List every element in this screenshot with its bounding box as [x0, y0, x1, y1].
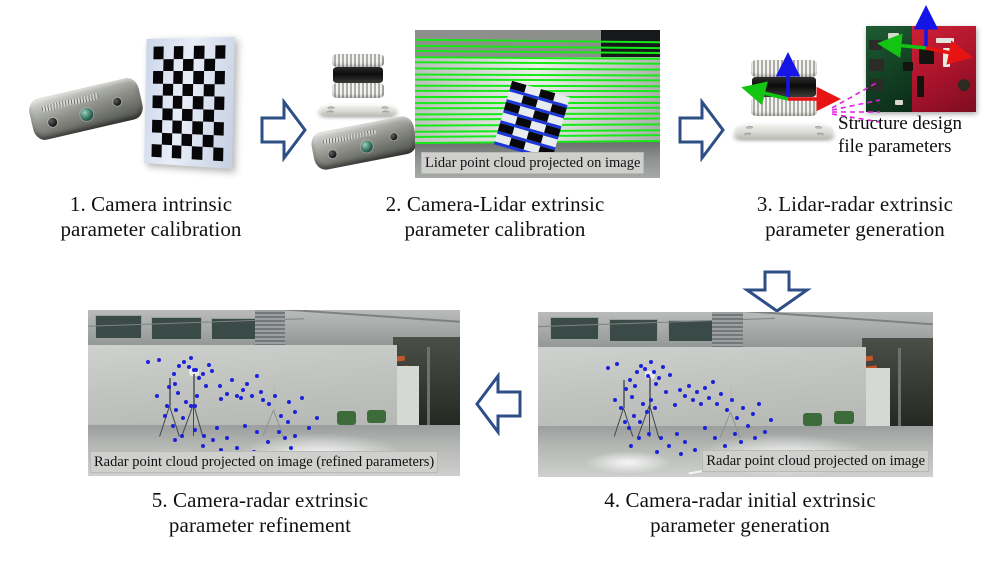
annotation-line2: file parameters [838, 135, 997, 158]
camera-icon [27, 76, 146, 142]
step-3-panel: Structure design file parameters 3. Lida… [720, 0, 997, 260]
step-3-label-line2: parameter generation [716, 217, 994, 242]
step-1-panel: 1. Camera intrinsic parameter calibratio… [0, 0, 300, 260]
step-3-label-line1: 3. Lidar-radar extrinsic [716, 192, 994, 217]
arrow-right-icon [676, 98, 726, 162]
step-3-annotation: Structure design file parameters [838, 112, 997, 158]
step-3-label: 3. Lidar-radar extrinsic parameter gener… [716, 192, 994, 242]
step-1-label-line1: 1. Camera intrinsic [6, 192, 296, 217]
step-2-photo: Lidar point cloud projected on image [415, 30, 660, 178]
tripod-left-2 [155, 376, 191, 438]
step-2-label-line2: parameter calibration [340, 217, 650, 242]
step-2-label: 2. Camera-Lidar extrinsic parameter cali… [340, 192, 650, 242]
step-5-image-caption: Radar point cloud projected on image (re… [90, 451, 438, 473]
step-5-label-line1: 5. Camera-radar extrinsic [60, 488, 460, 513]
step-5-panel: Radar point cloud projected on image (re… [40, 300, 480, 577]
arrow-left-icon [474, 372, 524, 436]
step-2-label-line1: 2. Camera-Lidar extrinsic [340, 192, 650, 217]
step-4-image-caption: Radar point cloud projected on image [702, 450, 929, 472]
step-4-label-line1: 4. Camera-radar initial extrinsic [530, 488, 950, 513]
step-5-photo: Radar point cloud projected on image (re… [88, 310, 460, 476]
annotation-line1: Structure design [838, 112, 997, 135]
step-5-label-line2: parameter refinement [60, 513, 460, 538]
checkerboard-icon [142, 38, 234, 166]
step-5-label: 5. Camera-radar extrinsic parameter refi… [60, 488, 460, 538]
step-4-panel: Radar point cloud projected on image 4. … [520, 300, 997, 577]
step-4-label: 4. Camera-radar initial extrinsic parame… [530, 488, 950, 538]
step-1-label-line2: parameter calibration [6, 217, 296, 242]
step-4-label-line2: parameter generation [530, 513, 950, 538]
lidar-icon [320, 52, 396, 120]
step-4-photo: Radar point cloud projected on image [538, 312, 933, 477]
step-1-label: 1. Camera intrinsic parameter calibratio… [6, 192, 296, 242]
step-2-panel: Lidar point cloud projected on image 2. … [300, 0, 660, 260]
step-2-image-caption: Lidar point cloud projected on image [421, 152, 644, 174]
camera-icon [309, 114, 418, 171]
